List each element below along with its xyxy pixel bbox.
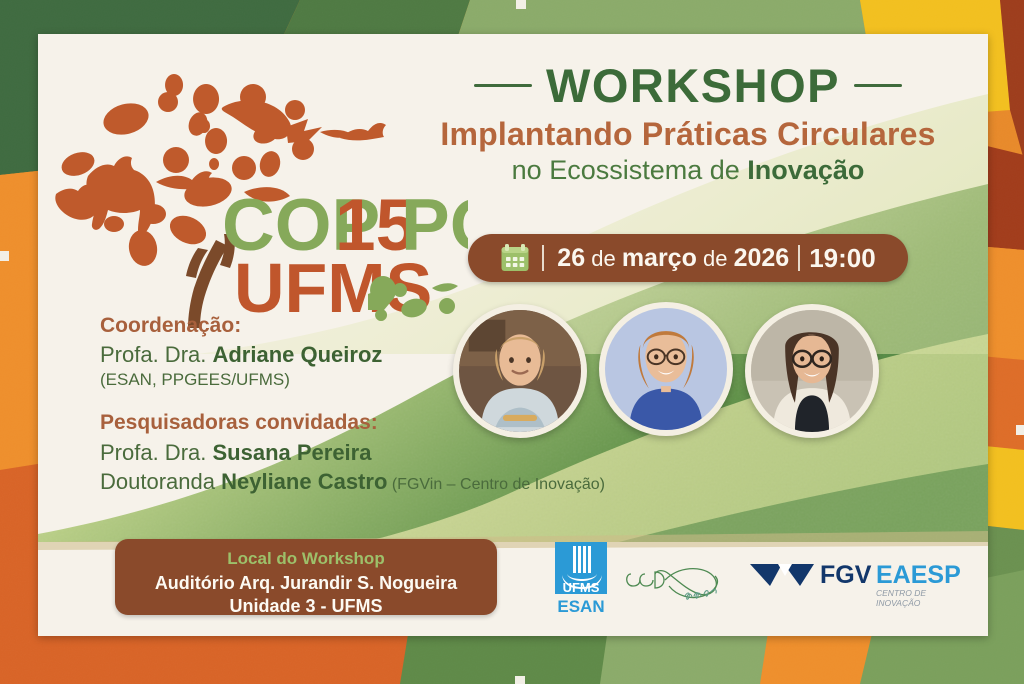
researcher-2-name: Neyliane Castro bbox=[221, 469, 387, 494]
subtitle-line-1: Implantando Práticas Circulares bbox=[398, 117, 978, 153]
event-connector-1: de bbox=[585, 246, 622, 271]
ufms-logo-text: UFMS bbox=[563, 580, 600, 595]
rule-right-icon bbox=[854, 84, 902, 87]
esan-logo-text: ESAN bbox=[557, 597, 604, 616]
ufms-esan-logo: UFMS ESAN bbox=[553, 542, 613, 618]
researcher-2-prefix: Doutoranda bbox=[100, 469, 221, 494]
registration-tick-bottom bbox=[515, 676, 525, 684]
page-title: WORKSHOP bbox=[546, 62, 840, 110]
fgv-eaesp-logo: FGV EAESP CENTRO DE INOVAÇÃO bbox=[748, 552, 963, 610]
registration-tick-top bbox=[516, 0, 526, 9]
subtitle-line-2-light: no Ecossistema bbox=[512, 155, 710, 185]
researchers-label: Pesquisadoras convidadas: bbox=[100, 409, 720, 437]
researcher-2-affiliation: (FGVin – Centro de Inovação) bbox=[387, 476, 605, 493]
researchers-group: Pesquisadoras convidadas: Profa. Dra. Su… bbox=[100, 409, 720, 495]
subtitle-line-2-bold: Inovação bbox=[747, 155, 864, 185]
fgv-sub-line-1: CENTRO DE bbox=[876, 588, 926, 598]
people-block: Coordenação: Profa. Dra. Adriane Queiroz… bbox=[100, 312, 720, 496]
date-separator-right-icon bbox=[798, 245, 800, 271]
event-connector-2: de bbox=[697, 246, 734, 271]
researcher-2-line: Doutoranda Neyliane Castro (FGVin – Cent… bbox=[100, 467, 720, 496]
researcher-1-name: Susana Pereira bbox=[212, 440, 371, 465]
rule-left-icon bbox=[474, 84, 532, 87]
event-time: 19:00 bbox=[809, 243, 876, 274]
eaesp-logo-text: EAESP bbox=[876, 561, 961, 589]
workshop-title-row: WORKSHOP bbox=[398, 62, 978, 110]
event-month: março bbox=[622, 244, 697, 272]
researcher-1-prefix: Profa. Dra. bbox=[100, 440, 212, 465]
headline-block: WORKSHOP Implantando Práticas Circulares… bbox=[398, 62, 978, 186]
poster-card: COP 15 POP UFMS WORKSHOP bbox=[38, 34, 988, 636]
event-date: 26 de março de 2026 bbox=[557, 244, 789, 273]
coordinator-affiliation: (ESAN, PPGEES/UFMS) bbox=[100, 369, 720, 392]
researcher-1-line: Profa. Dra. Susana Pereira bbox=[100, 438, 720, 467]
event-day: 26 bbox=[557, 244, 585, 272]
registration-tick-right bbox=[1016, 425, 1024, 435]
subtitle-line-2: no Ecossistema de Inovação bbox=[398, 155, 978, 186]
workshop-location-box: Local do Workshop Auditório Arq. Jurandi… bbox=[115, 539, 497, 615]
date-badge: 26 de março de 2026 19:00 bbox=[468, 234, 908, 282]
registration-tick-left bbox=[0, 251, 9, 261]
fgv-sub-line-2: INOVAÇÃO bbox=[876, 598, 921, 608]
coordinator-line: Profa. Dra. Adriane Queiroz bbox=[100, 340, 720, 369]
partner-logos: UFMS ESAN bbox=[543, 534, 973, 622]
portrait-neyliane-castro bbox=[745, 304, 879, 438]
location-title: Local do Workshop bbox=[115, 548, 497, 570]
fgv-logo-text: FGV bbox=[820, 561, 872, 589]
subtitle-line-2-de: de bbox=[710, 155, 748, 185]
ccd-escola-logo bbox=[625, 552, 735, 606]
location-line-2: Unidade 3 - UFMS bbox=[115, 595, 497, 618]
event-year: 2026 bbox=[734, 244, 790, 272]
coordinator-name: Adriane Queiroz bbox=[212, 342, 382, 367]
coordinator-prefix: Profa. Dra. bbox=[100, 342, 212, 367]
avatar bbox=[751, 310, 873, 432]
calendar-icon bbox=[500, 243, 530, 273]
date-separator-left-icon bbox=[542, 245, 544, 271]
location-line-1: Auditório Arq. Jurandir S. Nogueira bbox=[115, 572, 497, 595]
coordination-label: Coordenação: bbox=[100, 312, 720, 340]
